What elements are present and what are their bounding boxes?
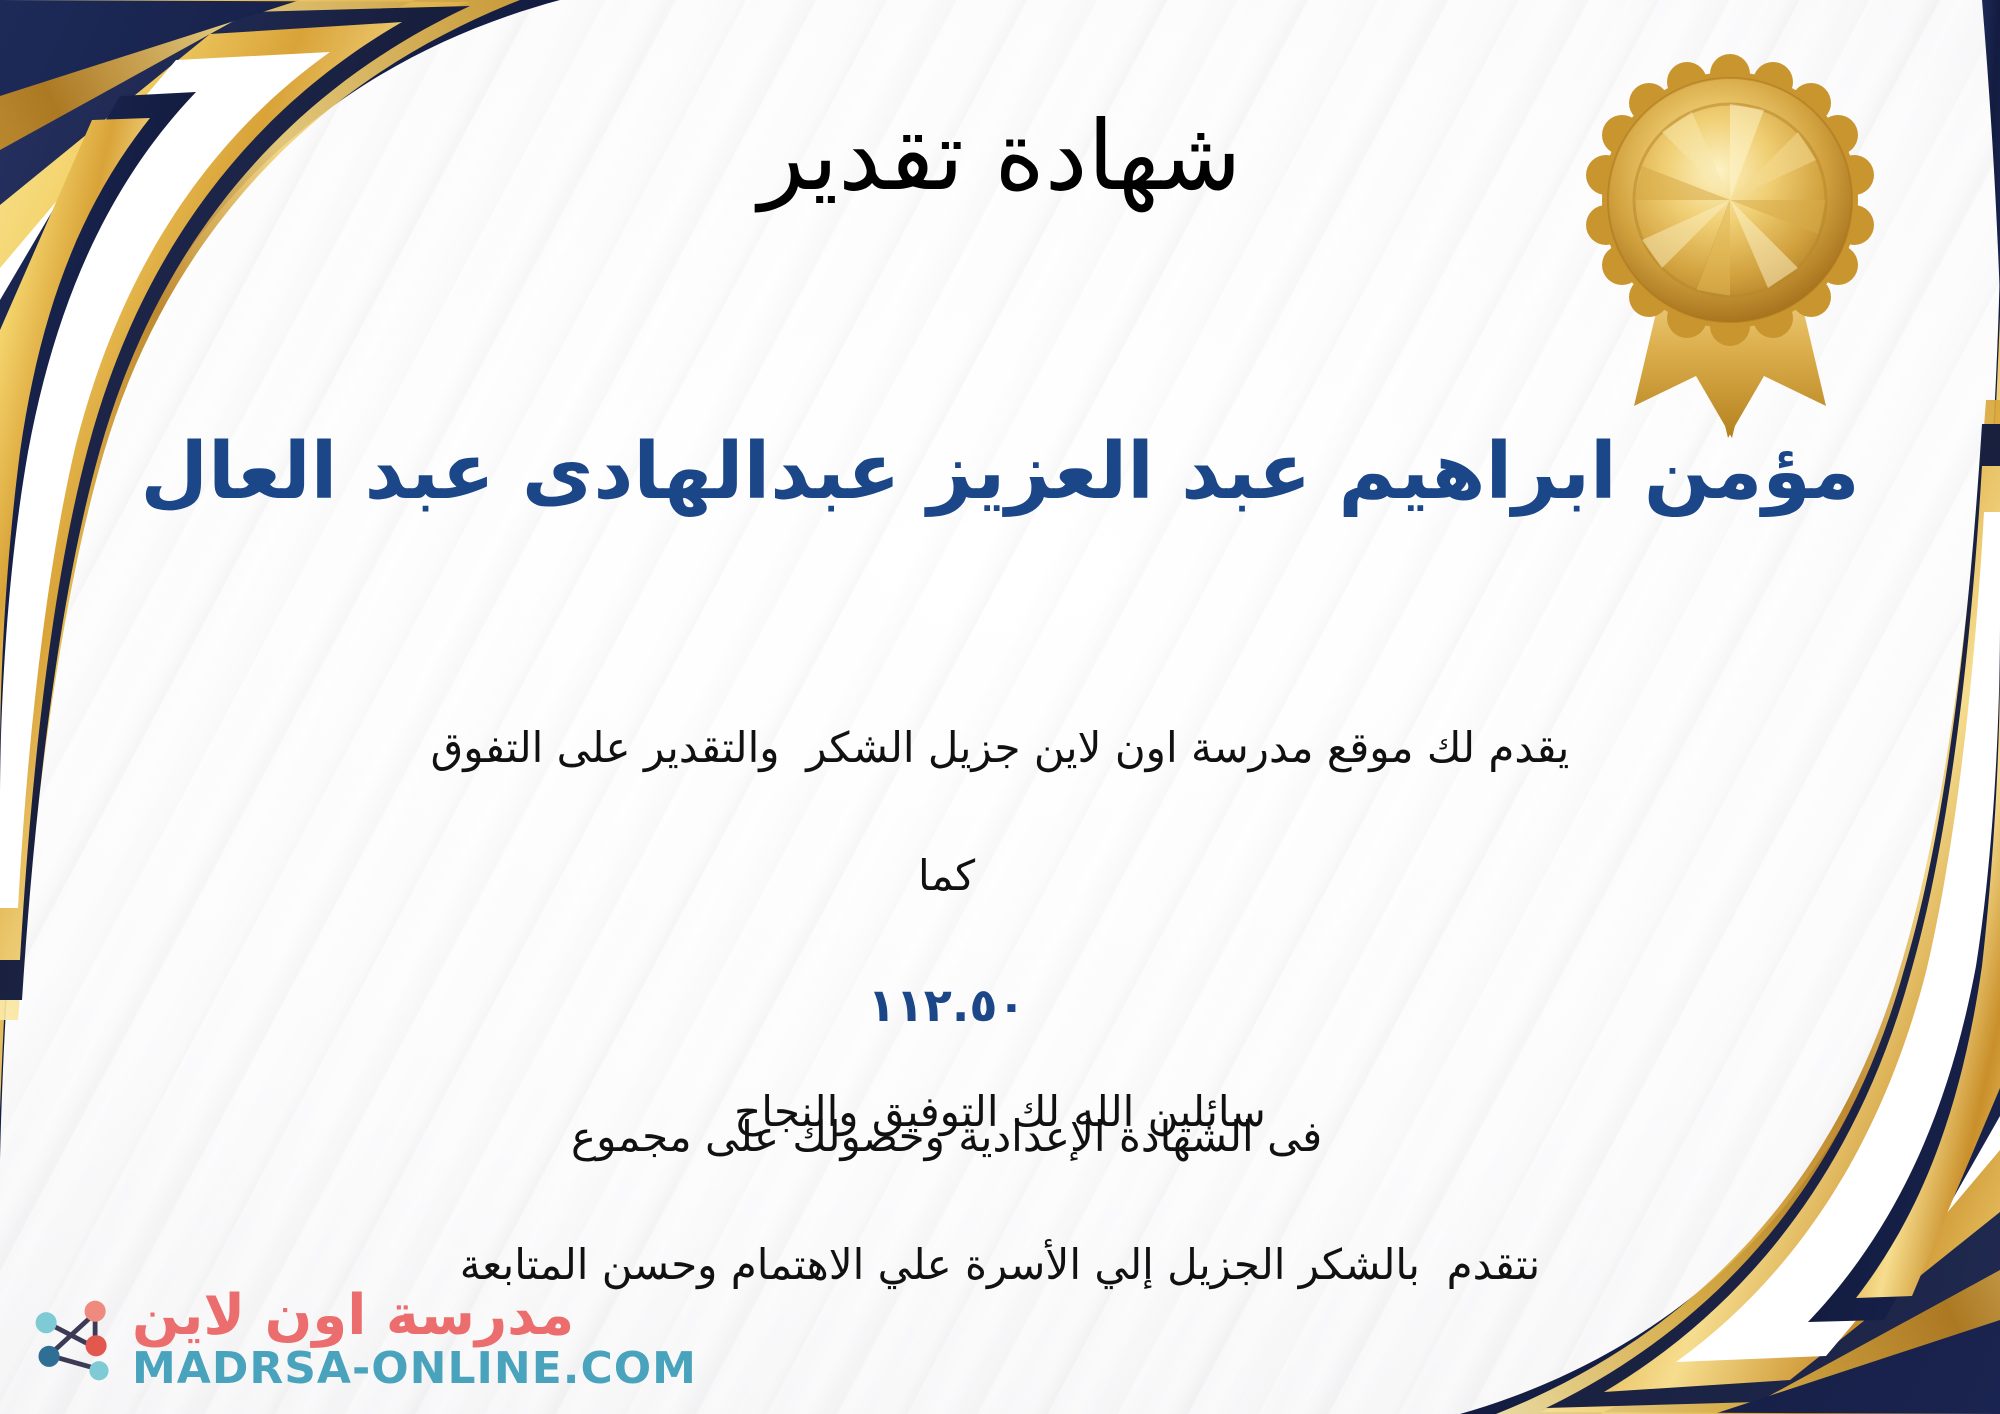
total-score-value: ١١٢.٥٠ xyxy=(868,978,1026,1032)
certificate-page: شهادة تقدير مؤمن ابراهيم عبد العزيز عبدا… xyxy=(0,0,2000,1414)
certificate-body: يقدم لك موقع مدرسة اون لاين جزيل الشكر و… xyxy=(180,716,1820,1297)
brand-text: مدرسة اون لاين MADRSA-ONLINE.COM xyxy=(132,1287,697,1392)
body-line-2: كما ١١٢.٥٠ فى الشهادة الإعدادية وحصولك ع… xyxy=(180,780,1820,1233)
body-line-2-after-score: كما xyxy=(918,851,975,900)
closing-line: سائلين الله لك التوفيق والنجاح xyxy=(0,1080,2000,1143)
brand-logo[interactable]: مدرسة اون لاين MADRSA-ONLINE.COM xyxy=(26,1287,697,1392)
recipient-name: مؤمن ابراهيم عبد العزيز عبدالهادى عبد ال… xyxy=(0,428,2000,518)
brand-name-arabic: مدرسة اون لاين xyxy=(132,1287,574,1346)
brand-domain: MADRSA-ONLINE.COM xyxy=(132,1346,697,1392)
network-nodes-icon xyxy=(26,1292,122,1388)
certificate-title: شهادة تقدير xyxy=(0,104,2000,210)
body-line-1: يقدم لك موقع مدرسة اون لاين جزيل الشكر و… xyxy=(180,716,1820,780)
